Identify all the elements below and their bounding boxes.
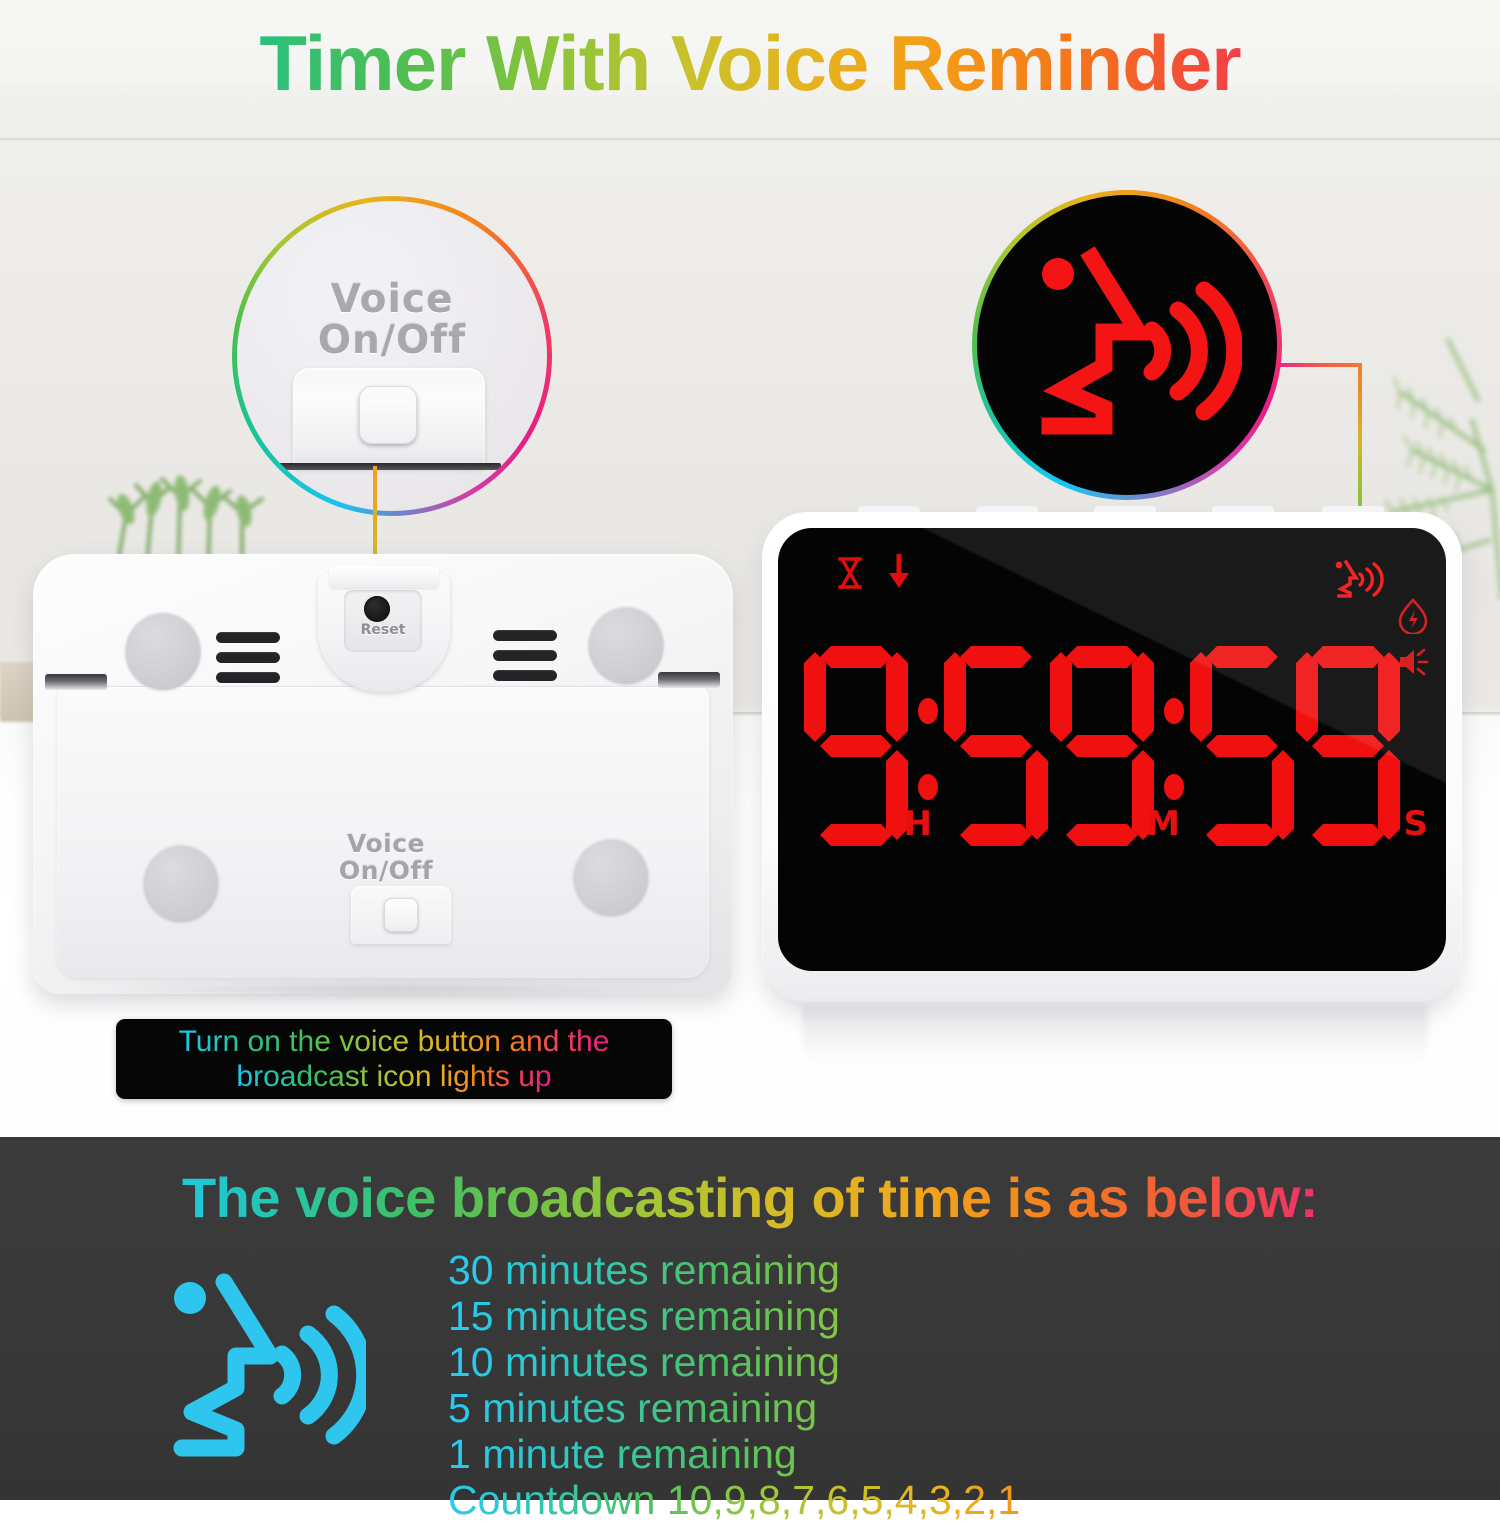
kickstand-top-lip <box>329 566 439 588</box>
hourglass-icon <box>836 556 864 596</box>
bottom-heading: The voice broadcasting of time is as bel… <box>0 1165 1500 1230</box>
voice-switch-housing[interactable] <box>351 886 451 944</box>
down-arrow-icon <box>886 554 912 597</box>
callout-right-content <box>977 195 1277 495</box>
callout-left-label: Voice On/Off <box>237 279 547 362</box>
voice-broadcast-icon <box>148 1268 366 1468</box>
voice-switch-nub-zoom[interactable] <box>359 386 417 444</box>
page-title: Timer With Voice Reminder <box>0 18 1500 109</box>
timer-reflection <box>802 1004 1428 1078</box>
caption-line-1: Turn on the voice button and the <box>179 1024 610 1059</box>
wall-trim-line <box>0 138 1500 141</box>
rubber-foot <box>573 838 649 916</box>
led-digit-sec-ones: S <box>1296 646 1400 846</box>
led-digit-hours: H <box>804 646 908 846</box>
timer-front-device: H M <box>762 512 1462 1002</box>
rubber-foot <box>143 844 219 922</box>
connector-line-right-horizontal <box>1280 363 1362 367</box>
voice-switch-housing-zoom[interactable] <box>293 368 485 468</box>
led-digit-min-ones: M <box>1050 646 1154 846</box>
led-digit-min-tens <box>944 646 1048 846</box>
speaker-grille-right <box>493 630 557 688</box>
hinge-right <box>658 672 720 688</box>
reset-recess: Reset <box>344 590 422 652</box>
voice-broadcast-icon <box>1012 240 1242 450</box>
product-scene: Timer With Voice Reminder Voice On/Off <box>0 0 1500 1137</box>
timer-back-panel: Reset Voice On/Off <box>33 554 733 994</box>
list-item: 15 minutes remaining <box>448 1294 1348 1340</box>
caption-line-2: broadcast icon lights up <box>236 1059 551 1094</box>
callout-left-content: Voice On/Off <box>237 201 547 511</box>
device-edge-shadow <box>277 463 501 470</box>
voice-broadcast-icon <box>1330 558 1384 605</box>
hinge-left <box>45 674 107 690</box>
led-screen: H M <box>778 528 1446 971</box>
list-item: 30 minutes remaining <box>448 1248 1348 1294</box>
reset-label: Reset <box>344 622 422 638</box>
reset-hole[interactable] <box>364 596 390 622</box>
callout-left-label-line1: Voice <box>331 277 454 322</box>
list-item: Countdown 10,9,8,7,6,5,4,3,2,1 <box>448 1478 1348 1523</box>
voice-broadcast-list: 30 minutes remaining 15 minutes remainin… <box>448 1248 1348 1523</box>
voice-onoff-label: Voice On/Off <box>291 830 481 884</box>
list-item: 5 minutes remaining <box>448 1386 1348 1432</box>
alarm-bolt-icon <box>1396 598 1430 639</box>
speaker-grille-left <box>216 632 280 690</box>
callout-left-label-line2: On/Off <box>318 318 466 363</box>
led-colon-1 <box>910 646 944 846</box>
callout-circle-broadcast-icon <box>972 190 1282 500</box>
unit-seconds: S <box>1404 804 1429 844</box>
list-item: 1 minute remaining <box>448 1432 1348 1478</box>
back-panel-shadow <box>79 980 689 998</box>
callout-circle-voice-button: Voice On/Off <box>232 196 552 516</box>
led-colon-2 <box>1156 646 1190 846</box>
voice-label-line2: On/Off <box>339 856 433 885</box>
list-item: 10 minutes remaining <box>448 1340 1348 1386</box>
rubber-foot <box>125 612 201 690</box>
rubber-foot <box>588 606 664 684</box>
led-digit-sec-tens <box>1190 646 1294 846</box>
voice-label-line1: Voice <box>347 829 425 858</box>
led-digit-row: H M <box>804 646 1402 846</box>
caption-banner: Turn on the voice button and the broadca… <box>116 1019 672 1099</box>
voice-switch-nub[interactable] <box>384 898 418 932</box>
led-readout: H M <box>778 528 1446 971</box>
